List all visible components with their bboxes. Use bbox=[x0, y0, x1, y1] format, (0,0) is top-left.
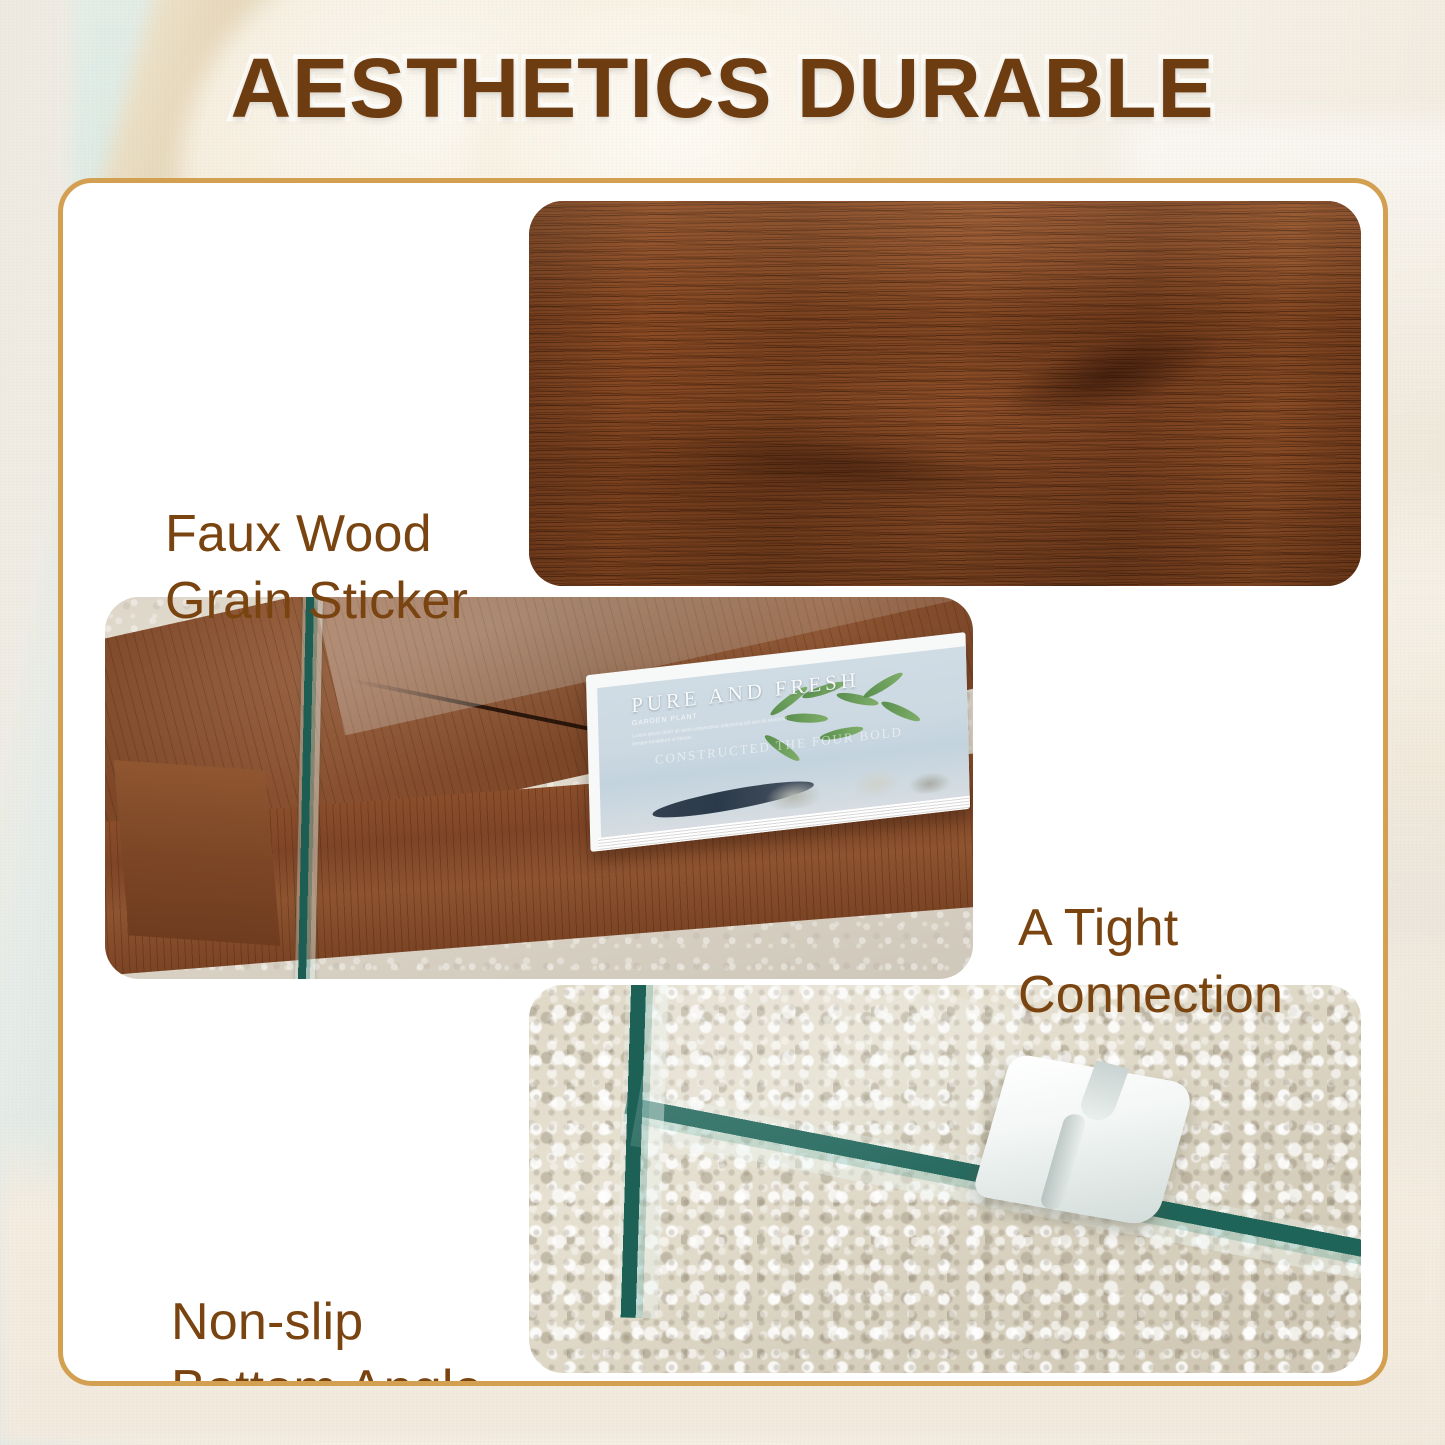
leaf-icon bbox=[879, 699, 922, 725]
wood-grain-swatch-image bbox=[529, 201, 1361, 586]
feature-label-faux-wood-grain-sticker: Faux Wood Grain Sticker bbox=[165, 501, 468, 634]
feature-label-a-tight-connection: A Tight Connection bbox=[1018, 895, 1283, 1028]
infographic-page: AESTHETICS DURABLE bbox=[0, 0, 1445, 1445]
glass-leg-on-carpet-nonslip-clip-image bbox=[529, 985, 1361, 1373]
wood-sheen-overlay bbox=[529, 201, 1361, 586]
page-title: AESTHETICS DURABLE bbox=[0, 46, 1445, 130]
leaf-icon bbox=[861, 670, 904, 702]
feature-card: PURE AND FRESH GARDEN PLANT Lorem ipsum … bbox=[58, 178, 1388, 1386]
nonslip-clip-groove bbox=[1039, 1113, 1088, 1211]
nonslip-clip-notch bbox=[1077, 1061, 1130, 1124]
feature-label-non-slip-bottom-angle: Non-slip Bottom Angle bbox=[171, 1289, 483, 1386]
table-left-end-cap bbox=[114, 760, 281, 946]
table-corner-glass-joint-image: PURE AND FRESH GARDEN PLANT Lorem ipsum … bbox=[105, 597, 973, 979]
